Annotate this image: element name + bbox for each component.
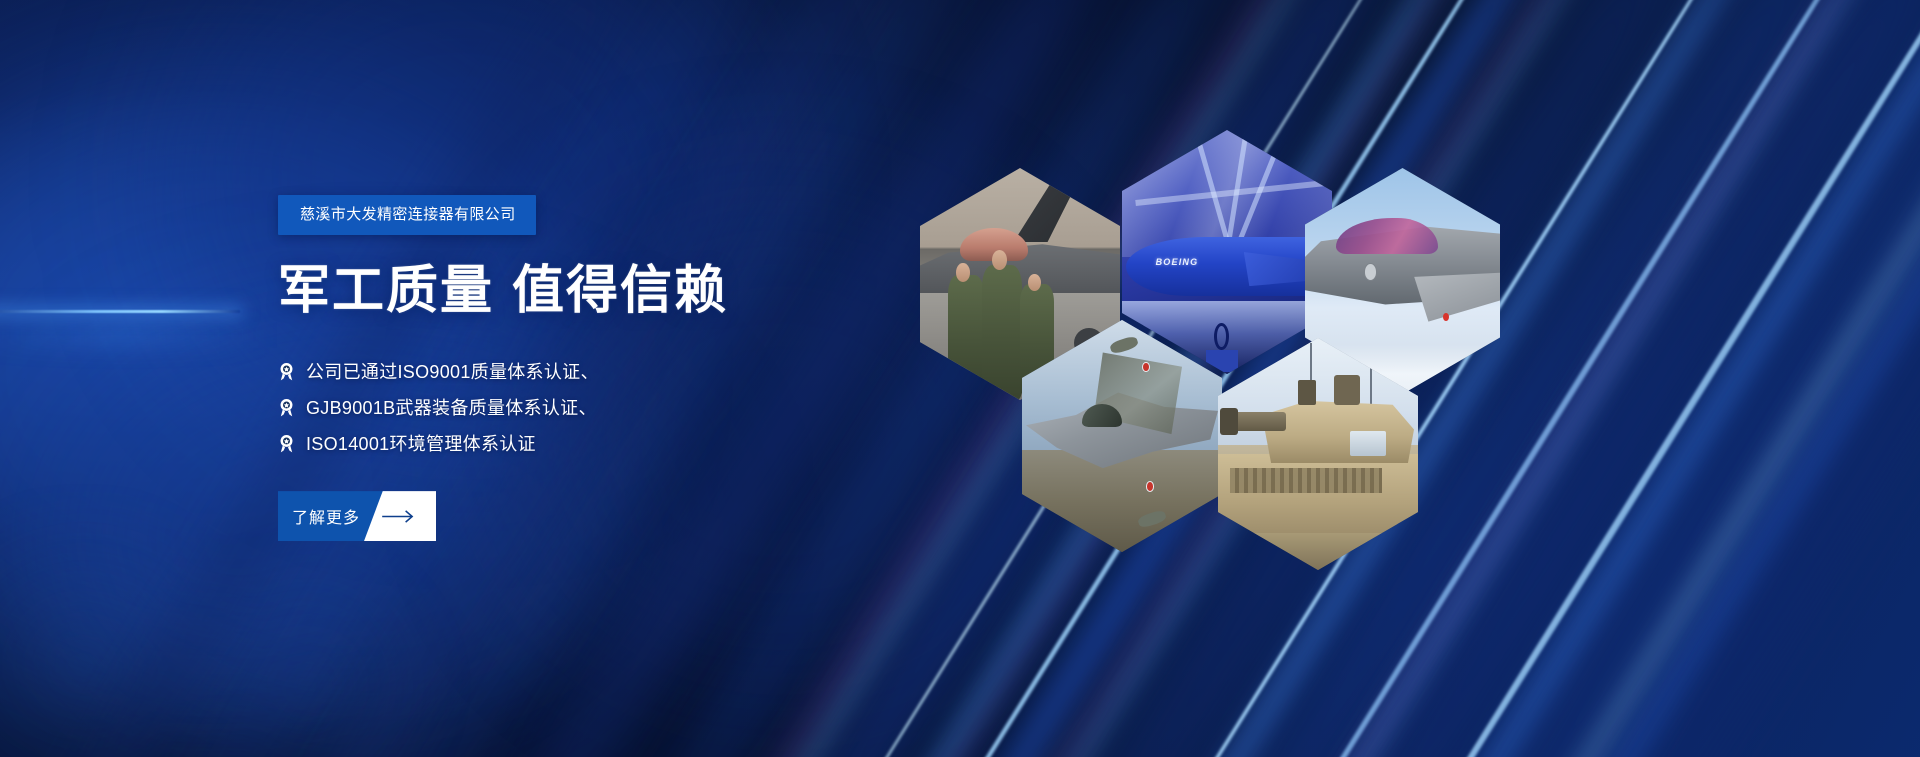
jet-roundel <box>1142 362 1150 372</box>
hex-image-boeing[interactable]: BOEING <box>1122 130 1332 374</box>
list-item: GJB9001B武器装备质量体系认证、 <box>278 389 898 425</box>
page-title: 军工质量值得信赖 <box>278 264 898 319</box>
tank-viewport <box>1350 431 1386 457</box>
medal-icon <box>278 398 295 417</box>
headline-part-2: 值得信赖 <box>512 262 728 320</box>
hero-banner: BOEING <box>0 0 1920 757</box>
tank-sight <box>1298 380 1316 406</box>
tank-muzzle <box>1220 408 1238 436</box>
tank-skirt <box>1218 533 1418 570</box>
pilot-head <box>956 263 970 282</box>
tank-turret <box>1262 398 1414 463</box>
jet-roundel <box>1364 263 1378 281</box>
pilot-head <box>1028 274 1041 291</box>
pilot-head <box>992 250 1007 270</box>
crane-hook <box>1214 323 1229 350</box>
headline-part-1: 军工质量 <box>278 262 494 320</box>
jet-canopy <box>1336 218 1437 254</box>
jet-roundel <box>1146 481 1154 491</box>
learn-more-label: 了解更多 <box>292 491 360 541</box>
boeing-logo-text: BOEING <box>1156 257 1199 267</box>
company-name-badge: 慈溪市大发精密连接器有限公司 <box>278 195 536 235</box>
terrain <box>1022 450 1222 552</box>
floor-crate <box>1206 350 1238 372</box>
jet-tailfin <box>1008 182 1076 242</box>
list-item-label: GJB9001B武器装备质量体系认证、 <box>306 394 597 420</box>
certification-list: 公司已通过ISO9001质量体系认证、 GJB9001B武器装备质量体系认证、 <box>278 353 898 461</box>
list-item: 公司已通过ISO9001质量体系认证、 <box>278 353 898 389</box>
jet-wing <box>1414 272 1500 322</box>
hexagon-image-cluster: BOEING <box>900 130 1460 630</box>
horizontal-light-haze <box>0 322 270 348</box>
horizontal-light-streak <box>0 310 240 313</box>
pilot-figure <box>948 275 984 396</box>
list-item-label: 公司已通过ISO9001质量体系认证、 <box>306 358 599 384</box>
medal-icon <box>278 434 295 453</box>
medal-icon <box>278 362 295 381</box>
tank-era-blocks <box>1230 468 1382 494</box>
tank-cupola <box>1334 375 1360 405</box>
jet-marking <box>1443 313 1449 321</box>
list-item-label: ISO14001环境管理体系认证 <box>306 430 536 456</box>
learn-more-button[interactable]: 了解更多 <box>278 491 436 541</box>
list-item: ISO14001环境管理体系认证 <box>278 425 898 461</box>
hero-content: 慈溪市大发精密连接器有限公司 军工质量值得信赖 公司已通过ISO9001质量体系… <box>278 195 898 541</box>
pilot-figure <box>982 265 1022 400</box>
boeing-hangar-illustration: BOEING <box>1122 130 1332 374</box>
arrow-right-icon <box>374 491 426 541</box>
